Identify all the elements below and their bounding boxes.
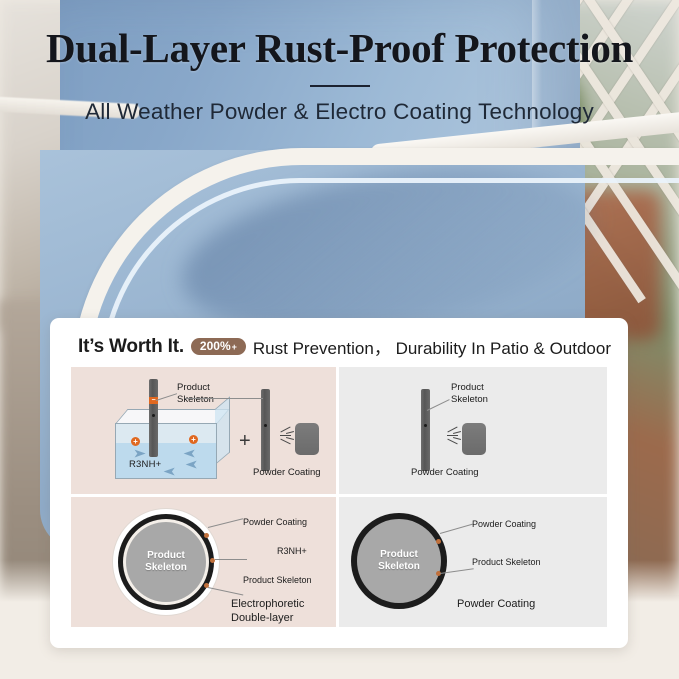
powder-coating-label: Powder Coating xyxy=(253,467,321,479)
spray-icon xyxy=(447,429,463,445)
ion-positive: + xyxy=(189,435,198,444)
layer-marker xyxy=(204,533,209,538)
flow-arrow-icon: ➤ xyxy=(186,458,198,471)
leader-line xyxy=(208,587,243,595)
comparison-grid: + + ➤ ➤ ➤ ➤ R3NH+ − Product Skeleton + xyxy=(71,367,607,627)
panel-powder-crosssection: Product Skeleton Powder Coating Product … xyxy=(339,497,607,627)
page-title: Dual-Layer Rust-Proof Protection xyxy=(0,26,679,71)
product-skeleton-rod xyxy=(149,379,158,457)
comparison-card: It’s Worth It. 200%+ Rust Prevention， Du… xyxy=(50,318,628,648)
rod-anchor-dot xyxy=(152,414,155,417)
product-skeleton-core: Product Skeleton xyxy=(357,519,441,603)
panel-electro-process: + + ➤ ➤ ➤ ➤ R3NH+ − Product Skeleton + xyxy=(71,367,339,497)
plus-symbol: + xyxy=(239,431,251,451)
leader-line xyxy=(215,559,247,560)
layer-label-electro: R3NH+ xyxy=(277,546,307,556)
badge-value: 200% xyxy=(200,340,231,352)
layer-marker xyxy=(436,539,441,544)
card-heading-strong: It’s Worth It. xyxy=(78,336,184,358)
page-subtitle: All Weather Powder & Electro Coating Tec… xyxy=(0,99,679,125)
crosssection-caption: Electrophoretic Double-layer Protection xyxy=(231,597,336,627)
layer-label-skeleton: Product Skeleton xyxy=(243,575,312,585)
powder-spray-gun xyxy=(295,423,319,455)
electrophoretic-tank: + + ➤ ➤ ➤ ➤ R3NH+ xyxy=(105,409,225,477)
spray-icon xyxy=(280,429,296,445)
leader-line xyxy=(156,393,177,401)
crosssection-caption: Powder Coating xyxy=(457,597,535,611)
product-skeleton-core: Product Skeleton xyxy=(126,522,206,602)
rod-anchor-dot xyxy=(424,424,427,427)
product-skeleton-rod xyxy=(421,389,430,471)
rod-anchor-dot xyxy=(264,424,267,427)
layer-label-skeleton: Product Skeleton xyxy=(472,557,541,567)
badge-superscript: + xyxy=(232,343,237,352)
powder-coating-label: Powder Coating xyxy=(411,467,479,479)
leader-line xyxy=(440,524,473,534)
layer-label-powder: Powder Coating xyxy=(243,517,307,527)
tank-top-face xyxy=(115,409,230,424)
panel-powder-process: Product Skeleton Powder Coating xyxy=(339,367,607,497)
panel-electro-crosssection: Product Skeleton Powder Coating R3NH+ Pr… xyxy=(71,497,339,627)
tank-side-face xyxy=(215,396,230,465)
card-heading: It’s Worth It. 200%+ Rust Prevention， Du… xyxy=(78,334,628,359)
product-skeleton-rod xyxy=(261,389,270,471)
product-skeleton-label: Product Skeleton xyxy=(177,382,214,406)
electrolyte-label: R3NH+ xyxy=(129,459,161,470)
leader-line xyxy=(208,518,243,528)
ion-positive: + xyxy=(131,437,140,446)
card-heading-tail: Rust Prevention， Durability In Patio & O… xyxy=(253,334,611,359)
layer-label-powder: Powder Coating xyxy=(472,519,536,529)
leader-line xyxy=(185,398,263,399)
title-divider xyxy=(310,85,370,87)
powder-spray-gun xyxy=(462,423,486,455)
leader-line xyxy=(427,399,450,411)
status-badge: 200%+ xyxy=(191,338,246,355)
product-skeleton-label: Product Skeleton xyxy=(451,382,488,406)
flow-arrow-icon: ➤ xyxy=(164,465,176,478)
header: Dual-Layer Rust-Proof Protection All Wea… xyxy=(0,0,679,125)
